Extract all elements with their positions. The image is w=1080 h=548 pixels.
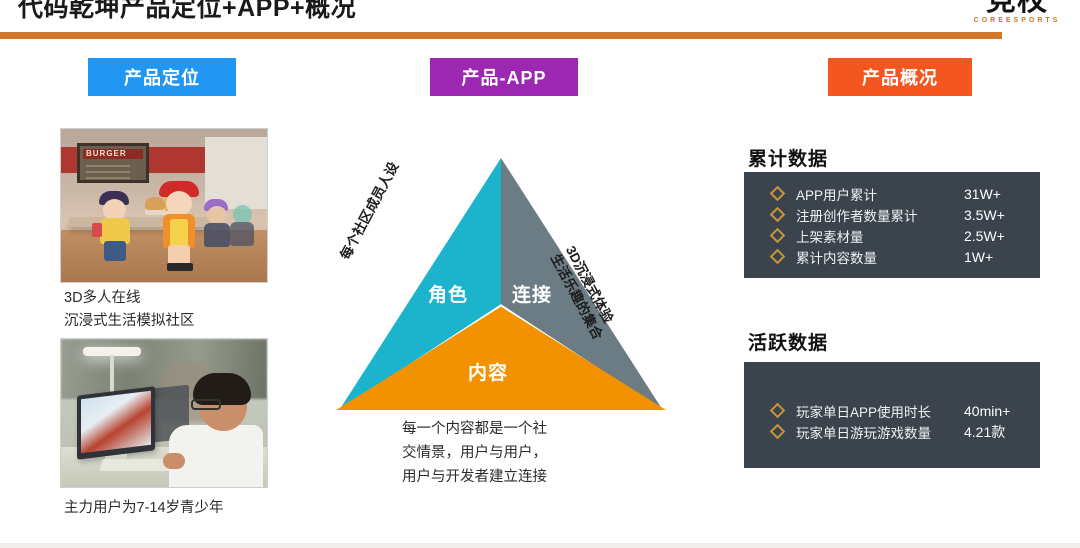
row-value: 31W+ (964, 186, 1026, 202)
row-label: 累计内容数量 (796, 247, 964, 267)
row-label: 注册创作者数量累计 (796, 205, 964, 225)
data-row: 玩家单日APP使用时长 40min+ (772, 400, 1026, 421)
data-row: 上架素材量 2.5W+ (772, 225, 1026, 246)
diamond-bullet-icon (770, 207, 786, 223)
logo-wordmark: 竞校 (962, 0, 1072, 16)
panel-rows: 玩家单日APP使用时长 40min+ 玩家单日游玩游戏数量 4.21款 (772, 400, 1026, 442)
row-label: 玩家单日APP使用时长 (796, 401, 964, 421)
triangle-label-connection: 连接 (512, 280, 552, 307)
tab-product-positioning[interactable]: 产品定位 (88, 58, 236, 96)
avatar-seated-character (95, 191, 135, 263)
caption-target-users: 主力用户为7-14岁青少年 (64, 497, 224, 520)
computer-monitor (77, 386, 155, 460)
data-row: 累计内容数量 1W+ (772, 246, 1026, 267)
diamond-bullet-icon (770, 186, 786, 202)
diamond-bullet-icon (770, 228, 786, 244)
panel-rows: APP用户累计 31W+ 注册创作者数量累计 3.5W+ 上架素材量 2.5W+… (772, 183, 1026, 267)
caption-product-positioning: 3D多人在线 沉浸式生活模拟社区 (64, 287, 195, 333)
triangle-diagram: 角色 连接 内容 每个社区成员人设 3D沉浸式体验 生活乐趣的集合 (336, 158, 666, 410)
slide-root: 代码乾坤产品定位+APP+概况 竞校 COREESPORTS 产品定位 产品-A… (0, 0, 1080, 548)
data-row: 玩家单日游玩游戏数量 4.21款 (772, 421, 1026, 442)
row-value: 4.21款 (964, 422, 1026, 442)
row-value: 2.5W+ (964, 228, 1026, 244)
burger-restaurant-image: BURGER (60, 128, 268, 283)
row-value: 40min+ (964, 403, 1026, 419)
triangle-label-content: 内容 (468, 358, 508, 385)
page-title: 代码乾坤产品定位+APP+概况 (18, 0, 356, 24)
panel-active-data: 玩家单日APP使用时长 40min+ 玩家单日游玩游戏数量 4.21款 (744, 362, 1040, 468)
triangle-caption: 每一个内容都是一个社 交情景，用户与用户， 用户与开发者建立连接 (402, 417, 602, 489)
background-avatar (229, 203, 259, 259)
data-row: APP用户累计 31W+ (772, 183, 1026, 204)
triangle-side-label-left: 每个社区成员人设 (336, 159, 402, 262)
tab-product-overview[interactable]: 产品概况 (828, 58, 972, 96)
panel-title-cumulative: 累计数据 (746, 142, 836, 173)
student-computer-image (60, 338, 268, 488)
avatar-standing-character (157, 181, 205, 273)
row-value: 3.5W+ (964, 207, 1026, 223)
diamond-bullet-icon (770, 403, 786, 419)
menu-board-sign: BURGER (77, 143, 149, 183)
glasses-icon (191, 399, 221, 410)
title-divider (0, 32, 1002, 39)
panel-title-active: 活跃数据 (746, 326, 836, 357)
computer-lab-art (61, 339, 267, 487)
diamond-bullet-icon (770, 249, 786, 265)
row-label: 上架素材量 (796, 226, 964, 246)
row-label: APP用户累计 (796, 184, 964, 204)
row-value: 1W+ (964, 249, 1026, 265)
row-label: 玩家单日游玩游戏数量 (796, 422, 964, 442)
menu-board-text: BURGER (83, 149, 143, 159)
tab-label: 产品定位 (124, 64, 200, 90)
tab-product-app[interactable]: 产品-APP (430, 58, 578, 96)
brand-logo: 竞校 COREESPORTS (962, 0, 1072, 34)
panel-cumulative-data: APP用户累计 31W+ 注册创作者数量累计 3.5W+ 上架素材量 2.5W+… (744, 172, 1040, 278)
logo-subtitle: COREESPORTS (962, 16, 1072, 26)
student-figure (169, 373, 263, 488)
tab-label: 产品概况 (862, 64, 938, 90)
data-row: 注册创作者数量累计 3.5W+ (772, 204, 1026, 225)
triangle-label-role: 角色 (428, 280, 468, 307)
burger-scene-art: BURGER (61, 129, 267, 282)
footer-band (0, 543, 1080, 548)
tab-label: 产品-APP (461, 64, 546, 90)
diamond-bullet-icon (770, 424, 786, 440)
monitor-screen (81, 391, 151, 454)
